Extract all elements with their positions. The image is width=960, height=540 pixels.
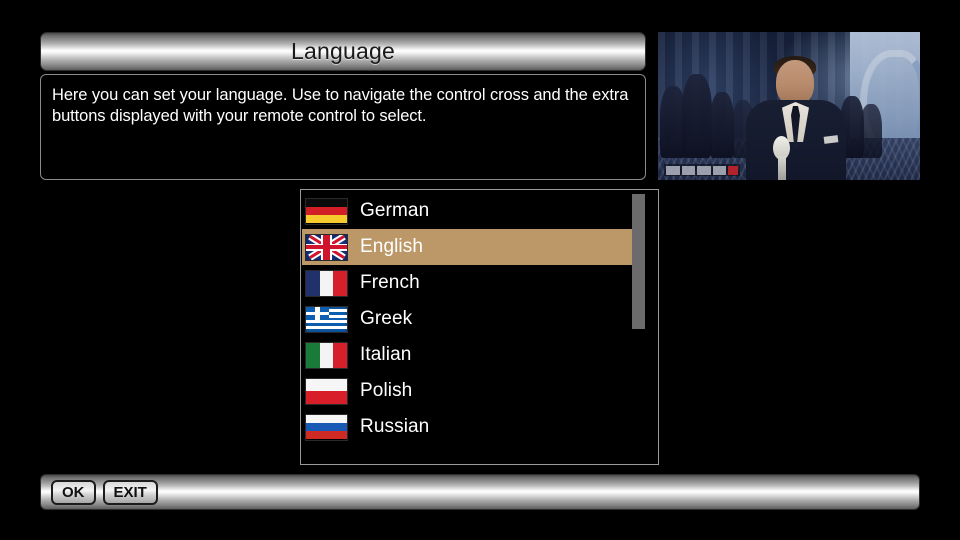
italy-flag-icon: [305, 342, 348, 369]
language-label: French: [360, 272, 420, 294]
greece-flag-icon: [305, 306, 348, 333]
info-text: Here you can set your language. Use to n…: [52, 85, 634, 127]
list-item-italian[interactable]: Italian: [302, 337, 642, 373]
united-kingdom-flag-icon: [305, 234, 348, 261]
tv-settings-screen: Language Here you can set your language.…: [0, 0, 960, 540]
bug-segment-red: [728, 166, 738, 175]
crowd-silhouette: [710, 92, 734, 158]
list-item-russian[interactable]: Russian: [302, 409, 642, 445]
bug-segment: [697, 166, 711, 175]
list-item-german[interactable]: German: [302, 193, 642, 229]
language-label: Greek: [360, 308, 412, 330]
language-label: English: [360, 236, 423, 258]
ok-button[interactable]: OK: [51, 480, 96, 505]
video-preview[interactable]: [658, 32, 920, 180]
list-item-french[interactable]: French: [302, 265, 642, 301]
france-flag-icon: [305, 270, 348, 297]
germany-flag-icon: [305, 198, 348, 225]
crowd-silhouette: [860, 104, 882, 158]
title-bar: Language: [40, 32, 646, 71]
page-title: Language: [291, 38, 395, 65]
language-list-panel: German English French: [300, 189, 659, 465]
language-label: Italian: [360, 344, 411, 366]
footer-bar: OK EXIT: [40, 474, 920, 510]
language-list: German English French: [302, 193, 642, 445]
scrollbar-thumb[interactable]: [632, 194, 645, 329]
language-label: German: [360, 200, 429, 222]
scrollbar-track[interactable]: [632, 193, 645, 463]
bug-segment: [682, 166, 696, 175]
channel-logo-bug: [664, 164, 740, 176]
microphone-stem: [778, 156, 786, 180]
info-box: Here you can set your language. Use to n…: [40, 74, 646, 180]
language-label: Russian: [360, 416, 429, 438]
list-item-english[interactable]: English: [302, 229, 642, 265]
exit-button[interactable]: EXIT: [103, 480, 158, 505]
list-item-polish[interactable]: Polish: [302, 373, 642, 409]
russia-flag-icon: [305, 414, 348, 441]
bug-segment: [713, 166, 727, 175]
language-label: Polish: [360, 380, 412, 402]
poland-flag-icon: [305, 378, 348, 405]
list-item-greek[interactable]: Greek: [302, 301, 642, 337]
crowd-silhouette: [682, 74, 712, 158]
bug-segment: [666, 166, 680, 175]
